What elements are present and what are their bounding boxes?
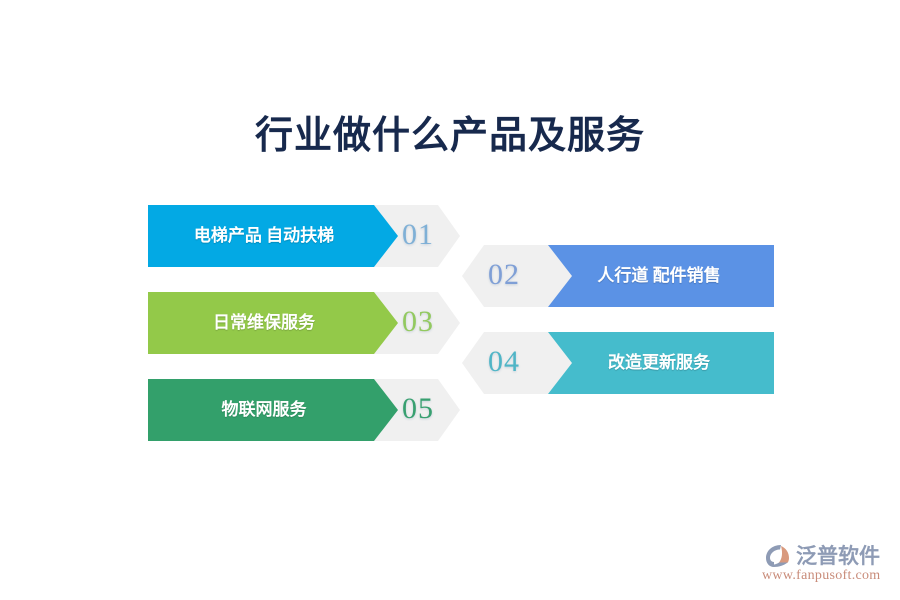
bar-05: [148, 379, 398, 441]
logo-website-url: www.fanpusoft.com: [762, 568, 881, 584]
diagram-row-03[interactable]: 日常维保服务 03: [148, 292, 460, 354]
product-service-diagram: 电梯产品 自动扶梯 01 人行道 配件销售 02 日常维保服务 03: [0, 0, 900, 600]
slide-canvas: 行业做什么产品及服务 电梯产品 自动扶梯 01 人行道 配件销售 02: [0, 0, 900, 600]
row-05-shapes: [148, 379, 460, 441]
diagram-row-04[interactable]: 改造更新服务 04: [462, 332, 774, 394]
row-01-shapes: [148, 205, 460, 267]
diagram-row-05[interactable]: 物联网服务 05: [148, 379, 460, 441]
fanpu-logo-icon: [760, 542, 794, 570]
diagram-row-02[interactable]: 人行道 配件销售 02: [462, 245, 774, 307]
diagram-row-01[interactable]: 电梯产品 自动扶梯 01: [148, 205, 460, 267]
bar-04: [548, 332, 774, 394]
bar-02: [548, 245, 774, 307]
bar-03: [148, 292, 398, 354]
row-02-shapes: [462, 245, 774, 307]
brand-logo: 泛普软件 www.fanpusoft.com: [760, 540, 892, 590]
row-03-shapes: [148, 292, 460, 354]
logo-brand-name: 泛普软件: [796, 540, 880, 570]
row-04-shapes: [462, 332, 774, 394]
bar-01: [148, 205, 398, 267]
